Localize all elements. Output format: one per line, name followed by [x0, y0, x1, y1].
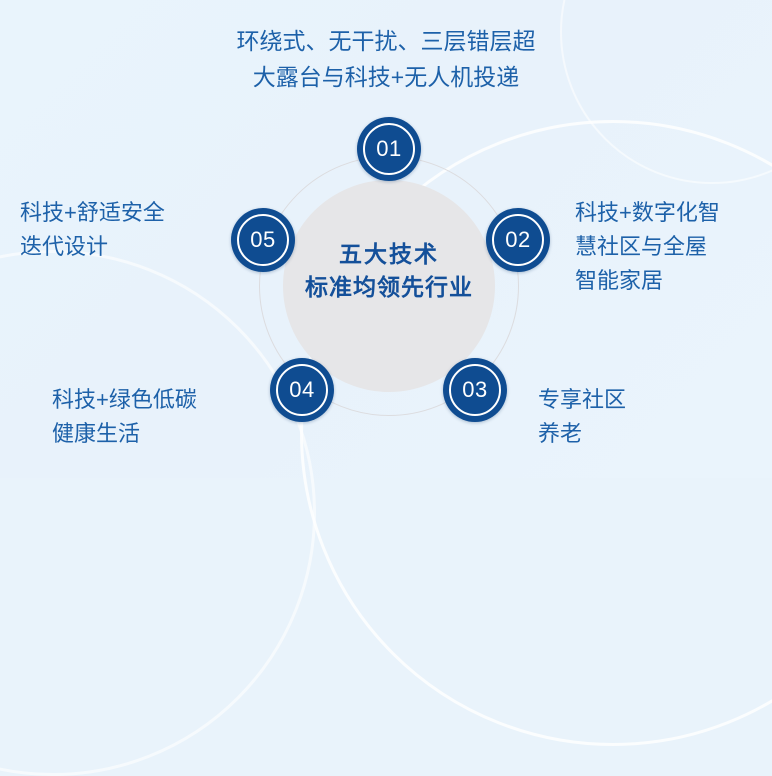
five-technologies-infographic: 五大技术 标准均领先行业 01 02 03 04 05 环绕式、无干扰、三层错层…: [0, 0, 772, 478]
center-caption-line-1: 五大技术: [283, 238, 495, 271]
badge-02-number: 02: [486, 208, 550, 272]
badge-03-number: 03: [443, 358, 507, 422]
badge-04[interactable]: 04: [270, 358, 334, 422]
label-03: 专享社区 养老: [538, 383, 748, 451]
label-01: 环绕式、无干扰、三层错层超 大露台与科技+无人机投递: [176, 24, 596, 95]
label-02: 科技+数字化智 慧社区与全屋 智能家居: [575, 196, 765, 298]
badge-05[interactable]: 05: [231, 208, 295, 272]
badge-01[interactable]: 01: [357, 117, 421, 181]
badge-05-number: 05: [231, 208, 295, 272]
badge-02[interactable]: 02: [486, 208, 550, 272]
badge-01-number: 01: [357, 117, 421, 181]
badge-04-number: 04: [270, 358, 334, 422]
center-caption-line-2: 标准均领先行业: [283, 271, 495, 304]
center-caption: 五大技术 标准均领先行业: [283, 238, 495, 305]
label-04: 科技+绿色低碳 健康生活: [52, 383, 267, 451]
badge-03[interactable]: 03: [443, 358, 507, 422]
label-05: 科技+舒适安全 迭代设计: [20, 196, 220, 264]
